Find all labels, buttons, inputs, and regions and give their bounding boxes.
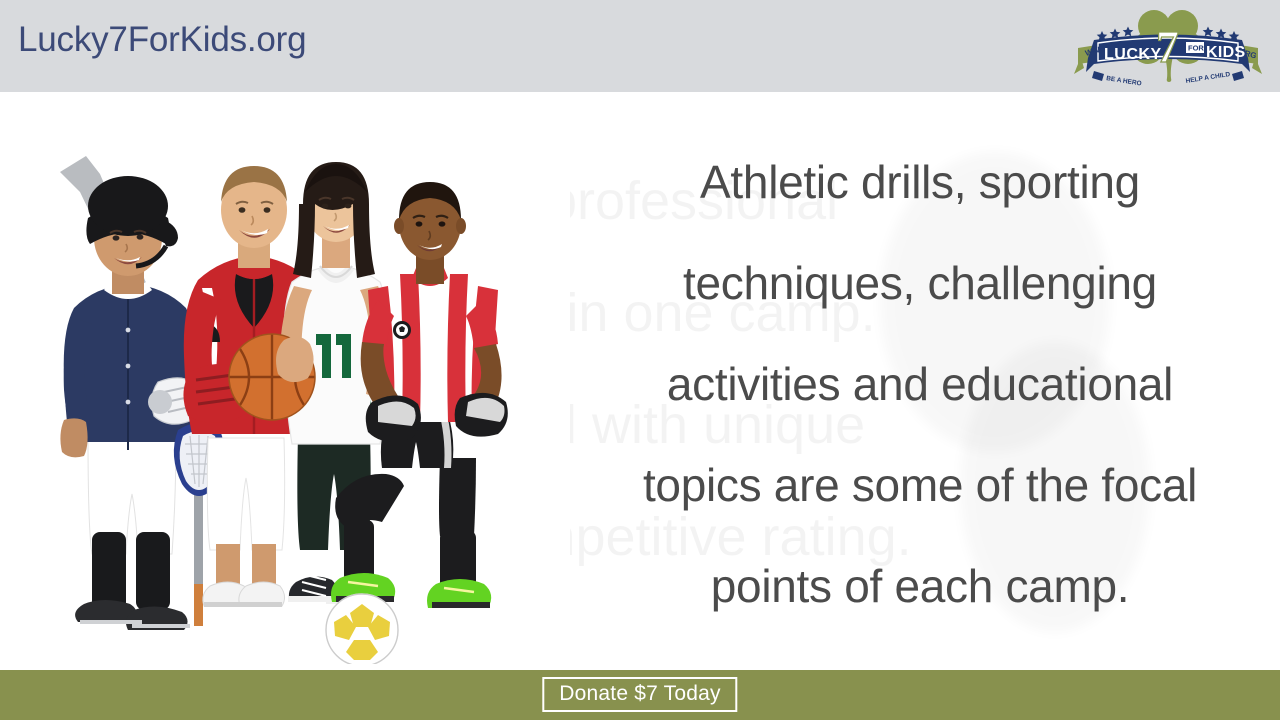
headline-line-4: topics are some of the focal [643, 435, 1197, 536]
logo-for-text: FOR [1188, 44, 1204, 53]
site-title: Lucky7ForKids.org [18, 20, 306, 60]
logo-ribbon-left-text: BE A HERO [1106, 75, 1142, 87]
logo-lucky-text: LUCKY [1104, 46, 1162, 63]
logo-ribbon-right-text: HELP A CHILD [1185, 71, 1231, 85]
logo-seven-numeral: 7 [1156, 21, 1179, 72]
headline-line-3: activities and educational [667, 334, 1173, 435]
lucky7forkids-logo[interactable]: WWW. .ORG LUCKY 7 FOR KIDS BE A HERO HEL… [1068, 4, 1268, 89]
logo-kids-text: KIDS [1206, 44, 1245, 61]
headline-line-2: techniques, challenging [683, 233, 1157, 334]
headline-text-block: Athletic drills, sporting techniques, ch… [590, 132, 1250, 652]
donate-button[interactable]: Donate $7 Today [542, 677, 737, 712]
headline-line-1: Athletic drills, sporting [700, 132, 1140, 233]
page-footer: Donate $7 Today [0, 670, 1280, 720]
headline-line-5: points of each camp. [711, 536, 1129, 637]
slide-canvas: Lucky7ForKids.org [0, 0, 1280, 720]
page-header: Lucky7ForKids.org [0, 0, 1280, 92]
slide-body: and professional sports in one camp. hos… [0, 92, 1280, 670]
four-young-athletes-photo [40, 134, 570, 664]
